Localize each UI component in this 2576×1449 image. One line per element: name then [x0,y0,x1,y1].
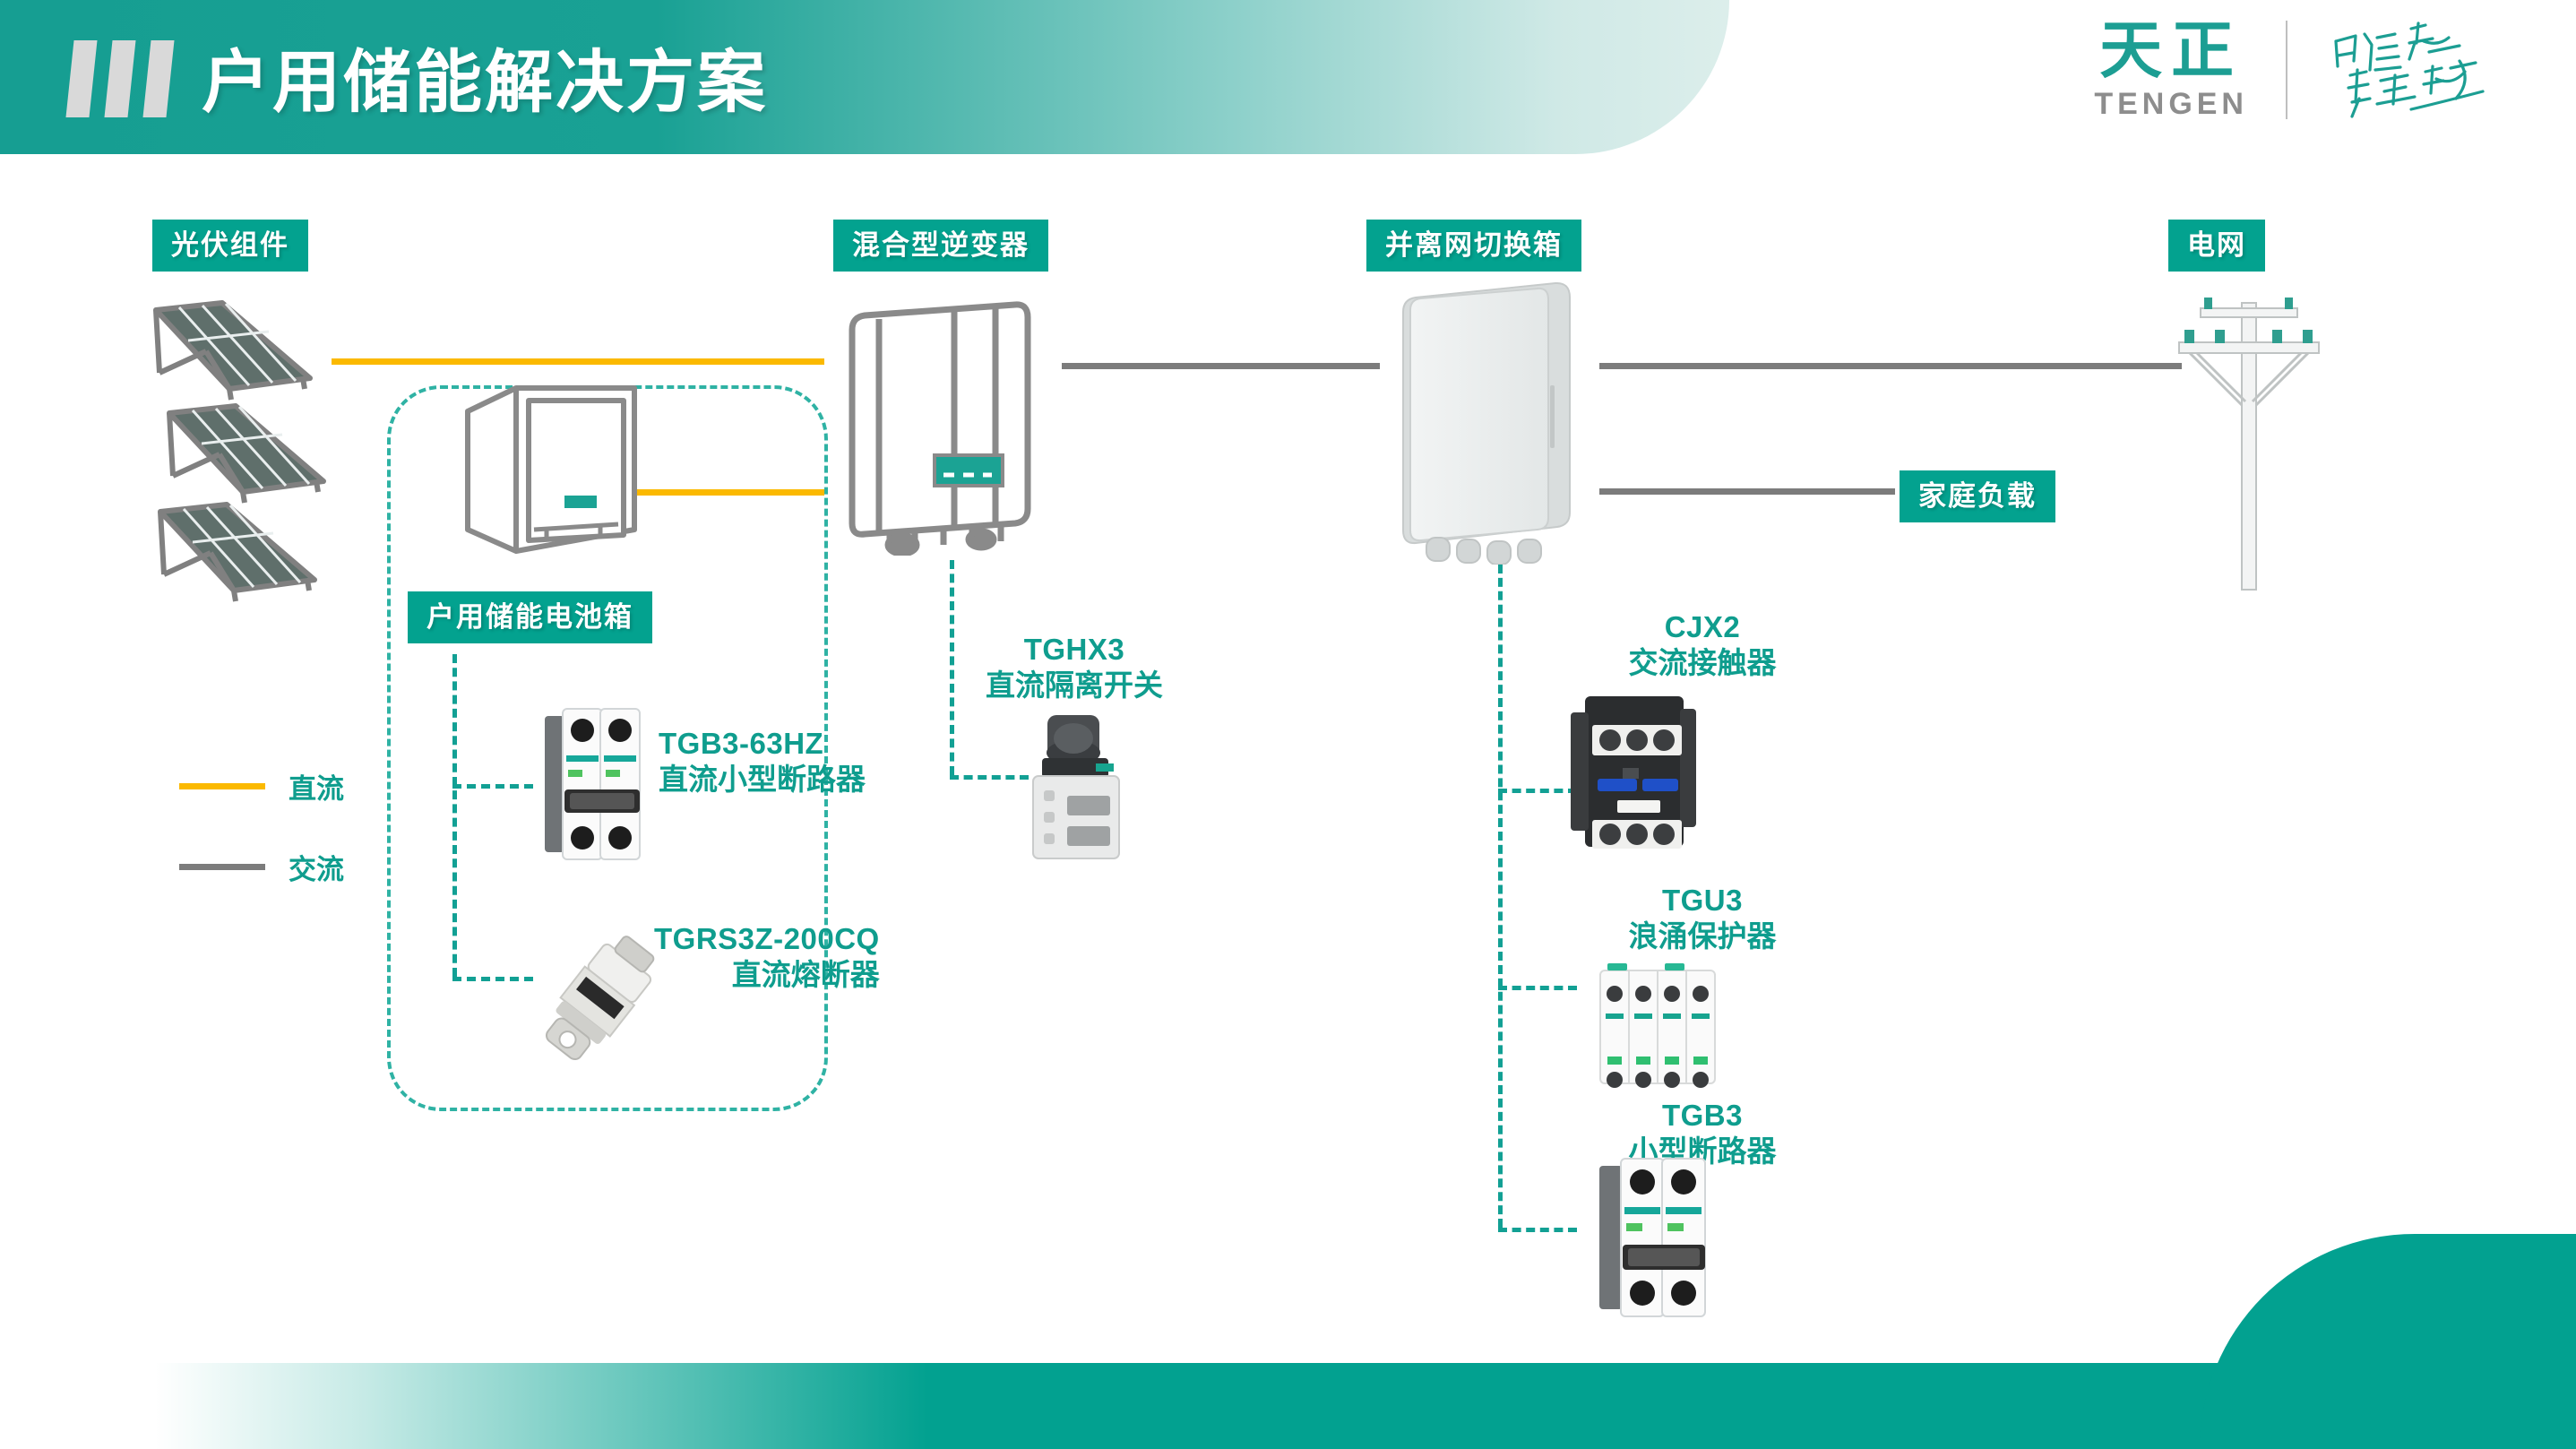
stage-badge-load: 家庭负载 [1900,470,2055,522]
inverter-branch-trunk [950,560,954,775]
solar-panel-icon [148,497,327,614]
product-label-cjx2: CJX2 交流接触器 [1595,609,1810,682]
hybrid-inverter-icon [838,296,1062,556]
diagram-canvas: 户用储能解决方案 天正 TENGEN 光伏组件 [0,0,2576,1449]
slogan-handwriting-icon [2325,16,2522,124]
legend-item-dc: 直流 [179,766,344,806]
stage-badge-pv: 光伏组件 [152,220,308,272]
page-title: 户用储能解决方案 [202,27,768,125]
product-model: CJX2 [1595,609,1810,645]
product-label-tghx3: TGHX3 直流隔离开关 [986,632,1163,704]
solar-panel-icon [143,296,323,412]
utility-pole-icon [2159,287,2339,591]
tengen-logo-icon: 天正 TENGEN [2094,19,2248,122]
product-label-tgb3-63hz: TGB3-63HZ 直流小型断路器 [659,726,866,798]
product-desc: 浪涌保护器 [1595,919,1810,954]
brand-logo: 天正 TENGEN [2094,16,2522,124]
product-model: TGU3 [1595,883,1810,919]
ac-contactor-icon [1564,686,1716,856]
surge-protector-icon [1586,954,1729,1098]
stage-badge-inverter: 混合型逆变器 [833,220,1048,272]
product-desc: 交流接触器 [1595,645,1810,681]
footer-corner-curve [2200,1234,2576,1449]
battery-cabinet-icon [457,381,645,560]
logo-english-name: TENGEN [2094,87,2248,122]
legend-item-ac: 交流 [179,847,344,887]
legend-label-ac: 交流 [289,847,344,887]
stage-badge-switchbox: 并离网切换箱 [1366,220,1581,272]
legend-label-dc: 直流 [289,766,344,806]
switch-box-icon [1380,278,1604,565]
switchbox-branch-trunk [1498,565,1503,1228]
battery-branch-mcb [452,784,533,789]
ac-wire-switchbox-to-grid [1599,363,2182,369]
battery-branch-trunk [452,654,457,977]
product-model: TGB3 [1595,1098,1810,1134]
dc-isolator-icon [1017,708,1133,869]
legend-swatch-ac [179,864,265,870]
product-model: TGHX3 [986,632,1163,668]
footer-band [0,1363,2576,1449]
battery-branch-fuse [452,977,533,981]
header-logo-bars-icon [70,40,195,117]
ac-wire-inverter-to-switchbox [1062,363,1380,369]
switchbox-branch-spd [1498,986,1577,990]
switchbox-branch-mcb [1498,1228,1577,1232]
product-model: TGB3-63HZ [659,726,866,762]
product-desc: 直流隔离开关 [986,668,1163,703]
legend-swatch-dc [179,783,265,789]
mcb-icon [1590,1151,1716,1322]
logo-divider [2286,21,2287,119]
product-model: TGRS3Z-200CQ [654,921,880,957]
stage-badge-grid: 电网 [2168,220,2265,272]
logo-chinese-name: 天正 [2099,19,2243,82]
product-desc: 直流小型断路器 [659,762,866,798]
product-desc: 直流熔断器 [654,957,880,993]
dc-wire-pv-to-inverter [332,358,824,365]
stage-badge-battery: 户用储能电池箱 [408,591,652,643]
dc-mcb-icon [538,703,650,865]
product-label-tgrs3z-200cq: TGRS3Z-200CQ 直流熔断器 [654,921,880,994]
product-label-tgu3: TGU3 浪涌保护器 [1595,883,1810,955]
dc-fuse-icon [529,927,672,1071]
ac-wire-switchbox-to-load [1599,488,1895,495]
